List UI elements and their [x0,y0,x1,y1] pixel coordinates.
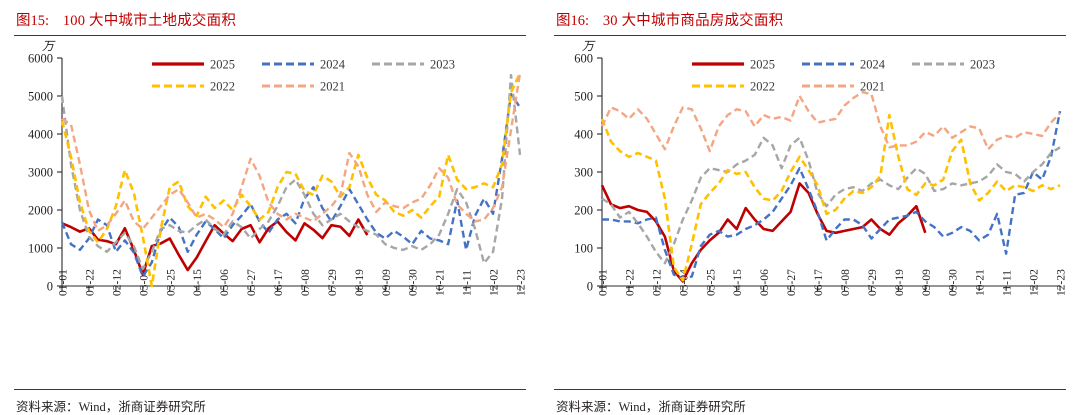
x-axis-tick-label: 11-11 [1002,270,1014,296]
figure-15-title: 图15: 100 大中城市土地成交面积 [14,0,526,35]
figure-15-number: 图15: [16,13,49,29]
x-axis-tick-label: 05-06 [759,269,771,296]
figure-16-plot-area: 万010020030040050060001-0101-2202-1203-04… [554,36,1066,387]
figure-15-source: 资料来源：Wind，浙商证券研究所 [14,390,526,415]
legend-label-2022: 2022 [210,80,235,94]
x-axis-tick-label: 01-01 [58,269,70,296]
x-axis-tick-label: 01-01 [598,269,610,296]
x-axis-tick-label: 07-08 [840,269,852,296]
x-axis-tick-label: 12-02 [489,269,501,296]
series-line-2021 [602,92,1060,151]
x-axis-tick-label: 10-21 [975,269,987,296]
figure-sheet: 图15: 100 大中城市土地成交面积 万0100020003000400050… [0,0,1080,415]
y-axis-tick-label: 0 [47,280,53,294]
panel-figure-15: 图15: 100 大中城市土地成交面积 万0100020003000400050… [0,0,540,415]
y-axis-tick-label: 2000 [28,204,53,218]
figure-16-number: 图16: [556,13,589,29]
x-axis-tick-label: 01-22 [84,269,96,296]
y-axis-tick-label: 200 [574,204,593,218]
x-axis-tick-label: 07-08 [300,269,312,296]
x-axis-tick-label: 09-09 [381,269,393,296]
x-axis-tick-label: 01-22 [624,269,636,296]
y-axis-tick-label: 300 [574,166,593,180]
x-axis-tick-label: 12-23 [516,269,527,296]
legend-label-2021: 2021 [320,80,345,94]
x-axis-tick-label: 12-23 [1056,269,1067,296]
x-axis-tick-label: 08-19 [354,269,366,296]
figure-16-chart: 万010020030040050060001-0101-2202-1203-04… [554,36,1066,346]
series-line-2022 [62,73,520,286]
x-axis-tick-label: 05-06 [219,269,231,296]
x-axis-tick-label: 07-29 [867,269,879,296]
legend-label-2023: 2023 [430,58,455,72]
y-axis-tick-label: 1000 [28,242,53,256]
x-axis-tick-label: 09-30 [948,269,960,296]
legend-label-2024: 2024 [860,58,886,72]
x-axis-tick-label: 02-12 [111,269,123,296]
x-axis-tick-label: 04-15 [192,269,204,296]
figure-15-plot-area: 万010002000300040005000600001-0101-2202-1… [14,36,526,387]
x-axis-tick-label: 09-09 [921,269,933,296]
y-axis-tick-label: 4000 [28,128,53,142]
x-axis-tick-label: 12-02 [1029,269,1041,296]
y-axis-tick-label: 100 [574,242,593,256]
y-axis-tick-label: 400 [574,128,593,142]
figure-15-chart: 万010002000300040005000600001-0101-2202-1… [14,36,526,346]
x-axis-tick-label: 03-25 [165,269,177,296]
x-axis-tick-label: 04-15 [732,269,744,296]
legend-label-2021: 2021 [860,80,885,94]
figure-15-title-text: 100 大中城市土地成交面积 [63,13,236,29]
figure-16-title: 图16: 30 大中城市商品房成交面积 [554,0,1066,35]
x-axis-tick-label: 09-30 [408,269,420,296]
y-axis-tick-label: 0 [587,280,593,294]
y-axis-tick-label: 5000 [28,90,53,104]
legend-label-2023: 2023 [970,58,995,72]
series-line-2023 [602,138,1060,263]
y-axis-tick-label: 6000 [28,52,53,66]
panel-figure-16: 图16: 30 大中城市商品房成交面积 万0100200300400500600… [540,0,1080,415]
y-axis-tick-label: 500 [574,90,593,104]
legend-label-2024: 2024 [320,58,346,72]
x-axis-tick-label: 05-27 [246,269,258,296]
y-axis-tick-label: 3000 [28,166,53,180]
x-axis-tick-label: 07-29 [327,269,339,296]
y-axis-tick-label: 600 [574,52,593,66]
x-axis-tick-label: 08-19 [894,269,906,296]
figure-16-source: 资料来源：Wind，浙商证券研究所 [554,390,1066,415]
legend-label-2025: 2025 [750,58,775,72]
legend-label-2022: 2022 [750,80,775,94]
x-axis-tick-label: 11-11 [462,270,474,296]
x-axis-tick-label: 06-17 [273,269,285,296]
series-line-2021 [62,73,520,231]
x-axis-tick-label: 02-12 [651,269,663,296]
legend-label-2025: 2025 [210,58,235,72]
x-axis-tick-label: 03-25 [705,269,717,296]
x-axis-tick-label: 06-17 [813,269,825,296]
figure-16-title-text: 30 大中城市商品房成交面积 [603,13,783,29]
x-axis-tick-label: 05-27 [786,269,798,296]
x-axis-tick-label: 10-21 [435,269,447,296]
